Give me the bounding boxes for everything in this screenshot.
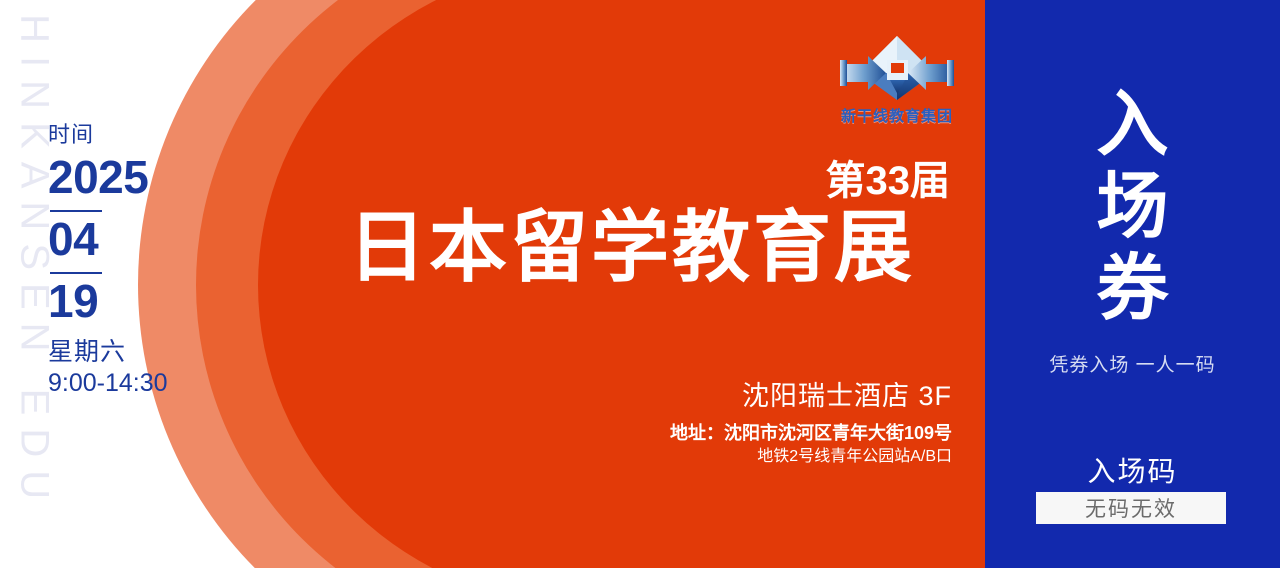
ticket-word-char-3: 券 xyxy=(985,248,1280,330)
ticket-poster: SHINKANSEN EDU 时间 2025 04 19 星期六 9:00-14… xyxy=(0,0,1280,568)
ticket-usage-note: 凭券入场 一人一码 xyxy=(985,350,1280,377)
date-time-range: 9:00-14:30 xyxy=(48,368,213,399)
venue-name: 沈阳瑞士酒店 3F xyxy=(500,380,952,414)
entry-code-value: 无码无效 xyxy=(1036,492,1226,524)
shinkansen-emblem-icon xyxy=(838,32,956,104)
organizer-logo: 新干线教育集团 xyxy=(832,32,962,124)
event-title: 日本留学教育展 xyxy=(348,205,956,289)
venue-address: 地址：沈阳市沈河区青年大街109号 xyxy=(500,420,952,446)
venue-transit: 地铁2号线青年公园站A/B口 xyxy=(500,446,952,468)
date-label: 时间 xyxy=(48,124,213,146)
date-weekday: 星期六 xyxy=(48,337,213,368)
ticket-word-char-1: 入 xyxy=(985,84,1280,166)
event-date-block: 时间 2025 04 19 星期六 9:00-14:30 xyxy=(48,124,213,399)
ticket-word-char-2: 场 xyxy=(985,166,1280,248)
ticket-word-vertical: 入 场 券 xyxy=(985,84,1280,330)
date-divider-top xyxy=(50,210,102,212)
date-divider-bottom xyxy=(50,272,102,274)
date-year: 2025 xyxy=(48,154,213,201)
date-day: 19 xyxy=(48,278,213,325)
entry-code-label: 入场码 xyxy=(985,450,1280,490)
venue-block: 沈阳瑞士酒店 3F 地址：沈阳市沈河区青年大街109号 地铁2号线青年公园站A/… xyxy=(500,380,952,468)
organizer-name: 新干线教育集团 xyxy=(832,105,962,126)
date-month: 04 xyxy=(48,216,213,263)
event-edition: 第33届 xyxy=(826,161,951,201)
